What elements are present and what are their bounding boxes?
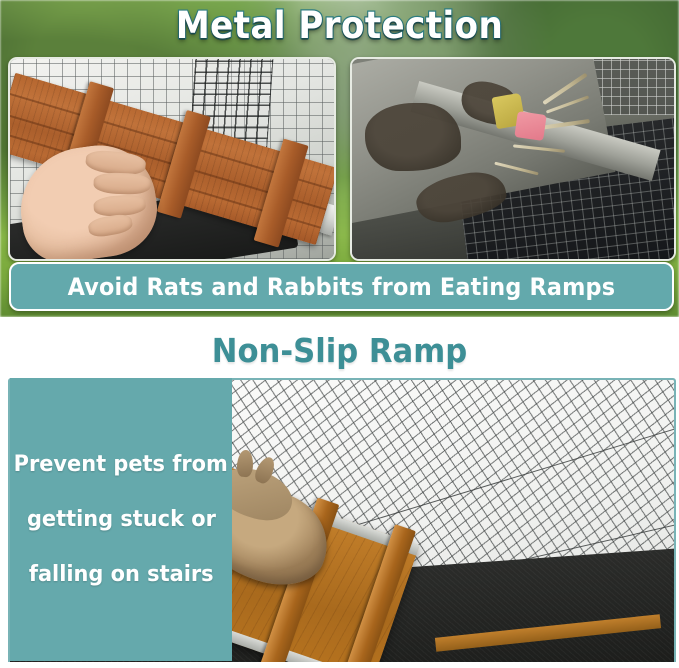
- caption-banner-text: Avoid Rats and Rabbits from Eating Ramps: [68, 273, 616, 301]
- section-title-metal-protection: Metal Protection: [27, 4, 652, 47]
- benefit-line-3: falling on stairs: [29, 562, 214, 587]
- benefit-text-panel: Prevent pets from getting stuck or falli…: [10, 378, 232, 661]
- metal-protection-section: Metal Protection: [0, 0, 679, 317]
- caption-banner: Avoid Rats and Rabbits from Eating Ramps: [9, 262, 674, 311]
- section-divider: [0, 317, 679, 329]
- product-feature-infographic: Metal Protection: [0, 0, 679, 668]
- section-title-non-slip-ramp: Non-Slip Ramp: [24, 331, 655, 370]
- benefit-line-1: Prevent pets from: [14, 452, 228, 477]
- photo-hand-holding-ramp: [8, 57, 336, 261]
- benefit-line-2: getting stuck or: [27, 507, 216, 532]
- bottom-margin: [0, 662, 679, 668]
- photo-chewed-damaged-ramp: [350, 57, 676, 261]
- pink-chip: [515, 111, 547, 141]
